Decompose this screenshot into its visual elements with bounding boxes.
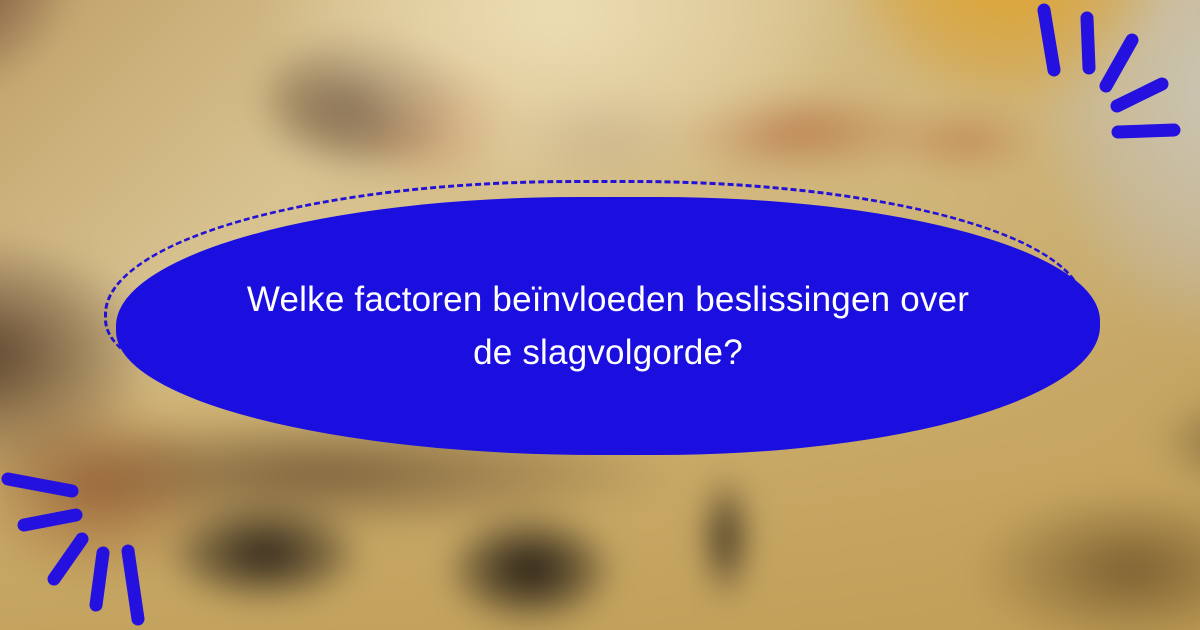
sparkle-stroke [1117,84,1162,106]
sparkle-stroke [128,551,138,619]
card-surface: Welke factoren beïnvloeden beslissingen … [116,197,1100,455]
sparkle-stroke [8,479,72,491]
sparkle-stroke [1118,130,1174,132]
sparkle-stroke [96,553,103,605]
question-title-line-1: Welke factoren beïnvloeden beslissingen … [208,273,1008,326]
sparkle-top-right-icon [1002,2,1182,152]
sparkle-stroke [1087,18,1089,68]
sparkle-stroke [1106,40,1132,86]
sparkle-stroke [54,539,82,579]
question-title: Welke factoren beïnvloeden beslissingen … [208,273,1008,379]
question-card: Welke factoren beïnvloeden beslissingen … [104,180,1100,455]
sparkle-bottom-left-icon [6,453,186,628]
question-title-line-2: de slagvolgorde? [208,326,1008,379]
sparkle-stroke [1044,10,1054,70]
poster-canvas: Welke factoren beïnvloeden beslissingen … [0,0,1200,630]
sparkle-stroke [24,515,76,525]
